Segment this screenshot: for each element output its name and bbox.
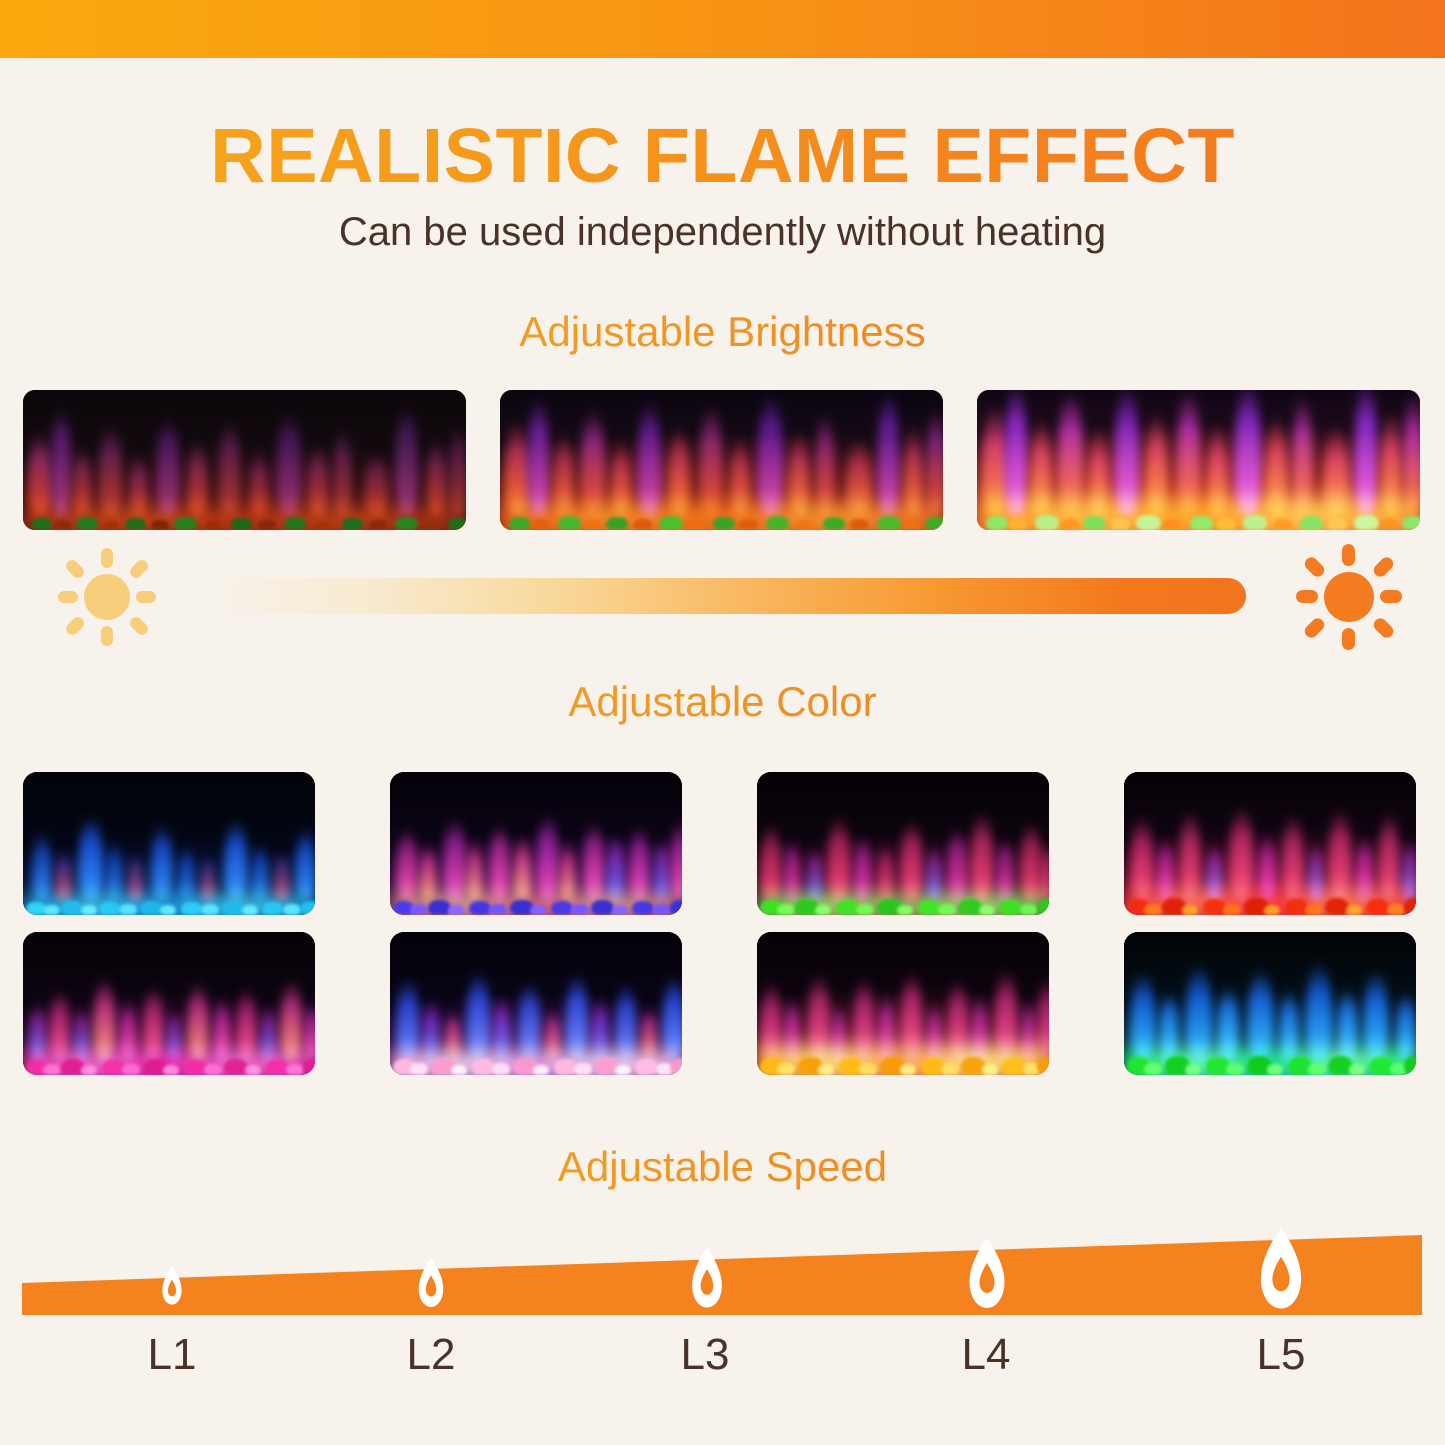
- sun-dim-icon: [58, 548, 156, 646]
- page-title: REALISTIC FLAME EFFECT: [0, 118, 1445, 195]
- color-tile: [390, 932, 682, 1075]
- color-tile: [23, 932, 315, 1075]
- section-heading-color: Adjustable Color: [0, 678, 1445, 726]
- flame-icon: [955, 1238, 1019, 1318]
- ember-bed: [500, 510, 943, 530]
- flame-icon: [155, 1266, 189, 1310]
- section-heading-brightness: Adjustable Brightness: [0, 308, 1445, 356]
- flame-icon: [1245, 1228, 1317, 1320]
- speed-level-label: L5: [1221, 1330, 1341, 1380]
- brightness-panel-bright: [977, 390, 1420, 530]
- color-tile: [1124, 772, 1416, 915]
- brightness-panel-dim: [23, 390, 466, 530]
- color-tile: [757, 772, 1049, 915]
- color-tile: [1124, 932, 1416, 1075]
- color-tile: [757, 932, 1049, 1075]
- ember-bed: [977, 508, 1420, 530]
- speed-level-label: L1: [112, 1330, 232, 1380]
- speed-level-label: L4: [926, 1330, 1046, 1380]
- ember-bed: [23, 512, 466, 530]
- flame-icon: [409, 1258, 453, 1314]
- flame-icon: [680, 1248, 734, 1316]
- color-tile: [23, 772, 315, 915]
- page-subtitle: Can be used independently without heatin…: [0, 210, 1445, 255]
- section-heading-speed: Adjustable Speed: [0, 1143, 1445, 1191]
- brightness-slider-track[interactable]: [202, 578, 1246, 614]
- speed-level-label: L3: [645, 1330, 765, 1380]
- color-tile: [390, 772, 682, 915]
- sun-bright-icon: [1296, 544, 1402, 650]
- brightness-panel-medium: [500, 390, 943, 530]
- top-accent-bar: [0, 0, 1445, 58]
- speed-level-label: L2: [371, 1330, 491, 1380]
